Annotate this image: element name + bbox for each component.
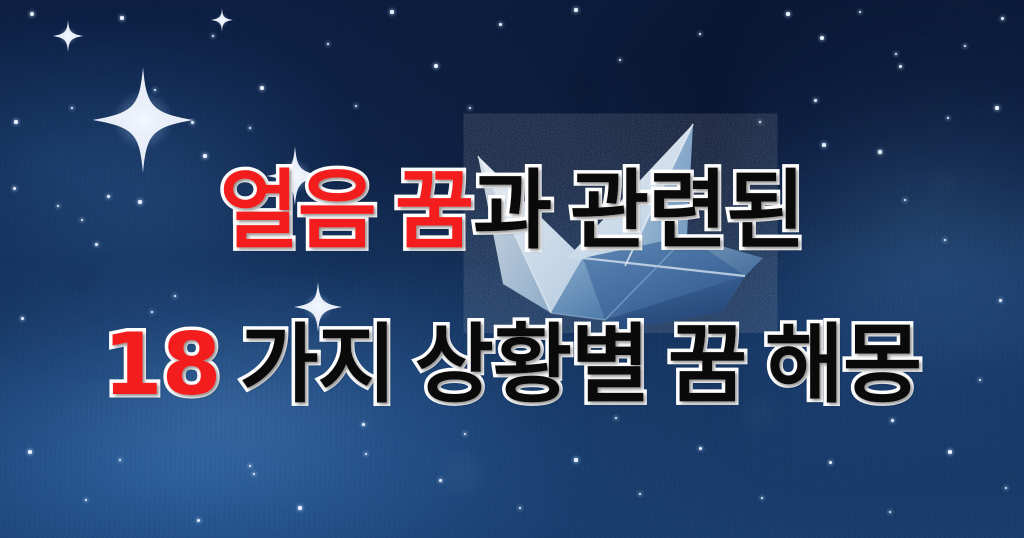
star-dot xyxy=(390,10,393,13)
star-dot xyxy=(878,150,881,153)
star-dot xyxy=(899,65,902,68)
headline-word-3: 과 xyxy=(473,168,551,254)
star-dot xyxy=(120,16,123,19)
headline-word-1: 얼음 xyxy=(220,168,376,254)
star-dot xyxy=(260,86,264,90)
headline-word-5: 가지 xyxy=(239,322,395,408)
star-dot xyxy=(786,12,789,15)
headline-word-6: 상황별 xyxy=(415,322,649,408)
headline-word-2: 꿈 xyxy=(395,168,473,254)
star-dot xyxy=(995,106,998,109)
star-dot xyxy=(21,317,24,320)
star-dot xyxy=(822,143,825,146)
star-dot xyxy=(999,299,1002,302)
headline-word-4: 관련된 xyxy=(570,168,804,254)
star-dot xyxy=(574,8,577,11)
headline-number-18: 18 xyxy=(103,322,221,408)
star-dot xyxy=(191,121,194,124)
star-dot xyxy=(574,458,577,461)
headline-line-2: 18가지상황별꿈해몽 xyxy=(0,322,1024,408)
star-dot xyxy=(439,479,442,482)
star-dot xyxy=(891,419,894,422)
star-dot xyxy=(298,506,301,509)
star-dot xyxy=(14,120,17,123)
star-dot xyxy=(30,12,34,16)
star-dot xyxy=(362,423,365,426)
star-dot xyxy=(197,519,200,522)
star-dot xyxy=(814,99,817,102)
star-dot xyxy=(203,154,206,157)
headline-line-1: 얼음꿈과관련된 xyxy=(0,168,1024,254)
star-dot xyxy=(948,450,951,453)
star-dot xyxy=(1001,17,1004,20)
star-dot xyxy=(434,64,438,68)
star-dot xyxy=(28,450,32,454)
star-dot xyxy=(699,447,702,450)
star-dot xyxy=(829,461,832,464)
headline-word-8: 해몽 xyxy=(765,322,921,408)
thumbnail-canvas: 얼음꿈과관련된 18가지상황별꿈해몽 xyxy=(0,0,1024,538)
headline-word-7: 꿈 xyxy=(668,322,746,408)
star-dot xyxy=(820,36,824,40)
star-dot xyxy=(499,23,502,26)
